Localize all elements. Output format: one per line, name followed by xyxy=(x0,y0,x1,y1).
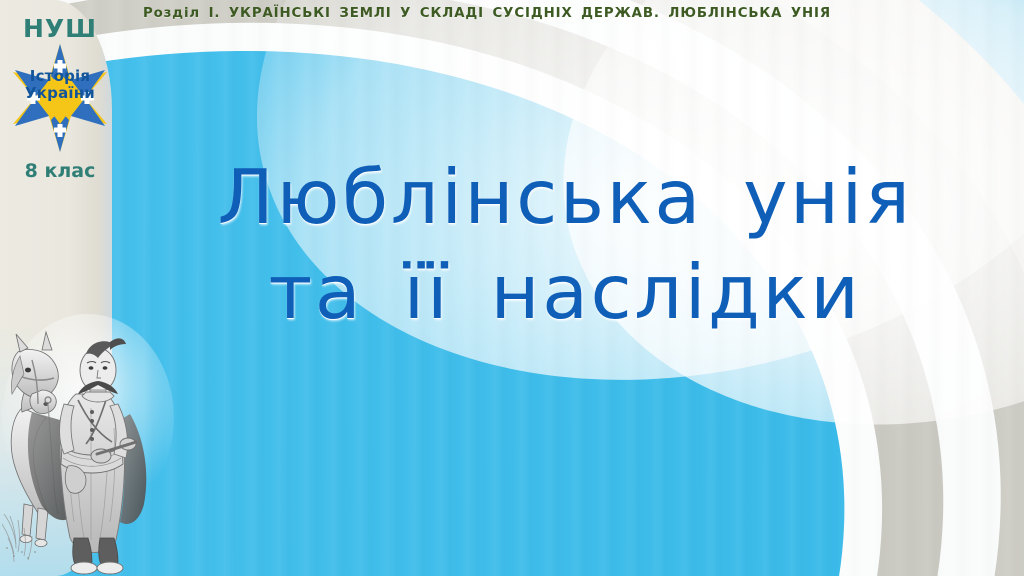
spine-blue-fade xyxy=(0,326,112,576)
ukrainian-star-icon: Історія України xyxy=(1,42,119,154)
emblem-grade-label: 8 клас xyxy=(0,160,120,182)
emblem-brand-label: НУШ xyxy=(0,16,120,41)
textbook-emblem: НУШ xyxy=(0,8,120,208)
emblem-subject-label: Історія України xyxy=(1,68,119,102)
slide-title-line1: Люблінська унія xyxy=(217,153,912,241)
slide-title-line2: та її наслідки xyxy=(150,245,980,340)
slide-title: Люблінська унія та її наслідки xyxy=(150,150,980,341)
emblem-subject-line2: України xyxy=(25,84,95,102)
emblem-subject-line1: Історія xyxy=(30,67,90,85)
chapter-header: Розділ I. УКРАЇНСЬКІ ЗЕМЛІ У СКЛАДІ СУСІ… xyxy=(143,6,1010,21)
slide-canvas: НУШ xyxy=(0,0,1024,576)
